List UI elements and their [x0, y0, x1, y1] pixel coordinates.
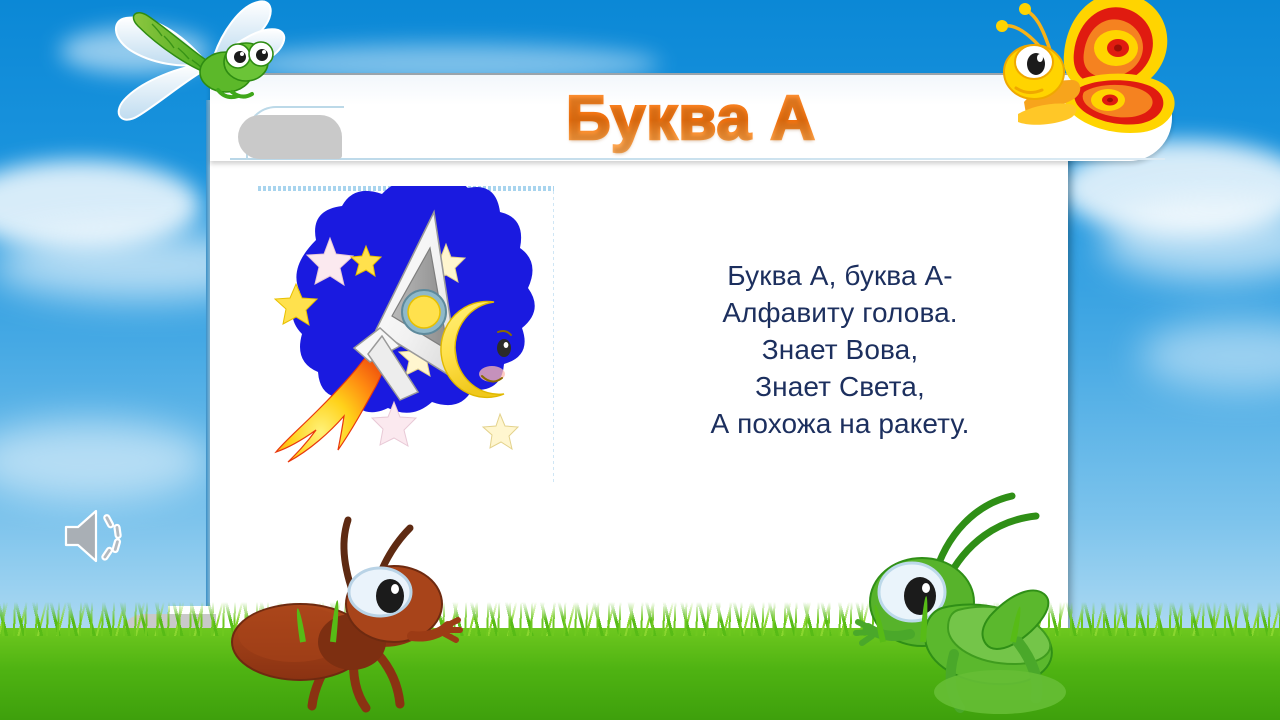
star [483, 414, 518, 449]
dragonfly-head [200, 42, 273, 97]
poem-line: Буква А, буква А- [630, 258, 1050, 295]
dragonfly-icon [86, 0, 286, 123]
rocket-letter-a-illustration [258, 186, 554, 482]
slide-canvas: Буква А [0, 0, 1280, 720]
poem-line: А похожа на ракету. [630, 406, 1050, 443]
grasshopper-icon [850, 486, 1088, 720]
butterfly-lower-wing [1064, 74, 1174, 133]
poem-line: Знает Вова, [630, 332, 1050, 369]
poem-line: Знает Света, [630, 369, 1050, 406]
header-underline [230, 158, 1165, 160]
picture-placeholder[interactable] [258, 186, 554, 482]
grass-strip [0, 628, 1280, 720]
butterfly-icon [990, 0, 1202, 144]
poem-text-block: Буква А, буква А- Алфавиту голова. Знает… [630, 258, 1050, 443]
poem-line: Алфавиту голова. [630, 295, 1050, 332]
speaker-icon[interactable] [60, 505, 134, 567]
ant-icon [228, 492, 468, 720]
moon-eye [497, 339, 511, 357]
